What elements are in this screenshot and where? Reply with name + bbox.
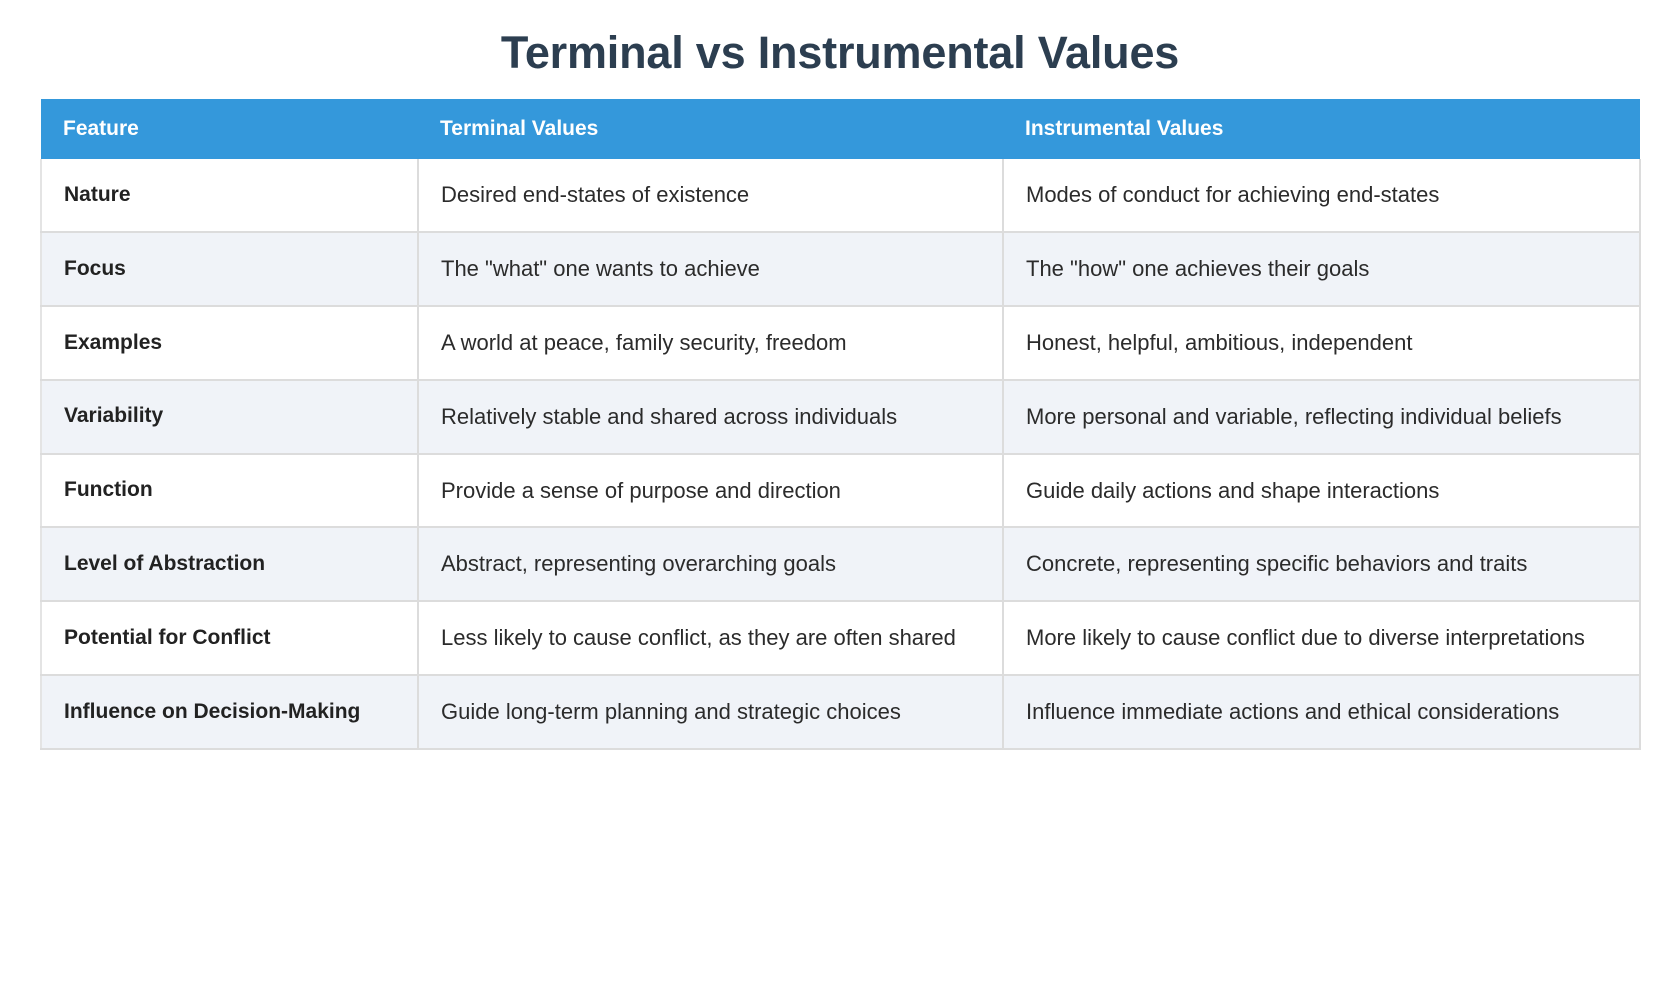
cell-instrumental: Guide daily actions and shape interactio… [1003,454,1640,528]
cell-instrumental: Concrete, representing specific behavior… [1003,527,1640,601]
cell-instrumental: Modes of conduct for achieving end-state… [1003,159,1640,232]
table-row: Potential for Conflict Less likely to ca… [41,601,1640,675]
cell-feature: Potential for Conflict [41,601,418,675]
table-row: Examples A world at peace, family securi… [41,306,1640,380]
cell-instrumental: More personal and variable, reflecting i… [1003,380,1640,454]
cell-terminal: Desired end-states of existence [418,159,1003,232]
cell-feature: Focus [41,232,418,306]
cell-instrumental: The "how" one achieves their goals [1003,232,1640,306]
comparison-table-container: Feature Terminal Values Instrumental Val… [40,99,1639,750]
cell-feature: Function [41,454,418,528]
table-row: Influence on Decision-Making Guide long-… [41,675,1640,749]
table-header: Feature Terminal Values Instrumental Val… [41,99,1640,159]
cell-instrumental: Honest, helpful, ambitious, independent [1003,306,1640,380]
table-header-row: Feature Terminal Values Instrumental Val… [41,99,1640,159]
cell-feature: Level of Abstraction [41,527,418,601]
column-header-instrumental-values[interactable]: Instrumental Values [1003,99,1640,159]
cell-instrumental: Influence immediate actions and ethical … [1003,675,1640,749]
cell-instrumental: More likely to cause conflict due to div… [1003,601,1640,675]
cell-terminal: Relatively stable and shared across indi… [418,380,1003,454]
comparison-table: Feature Terminal Values Instrumental Val… [40,99,1641,750]
cell-terminal: A world at peace, family security, freed… [418,306,1003,380]
comparison-table-page: Terminal vs Instrumental Values Feature … [0,0,1680,1006]
table-row: Focus The "what" one wants to achieve Th… [41,232,1640,306]
cell-terminal: The "what" one wants to achieve [418,232,1003,306]
cell-terminal: Less likely to cause conflict, as they a… [418,601,1003,675]
table-body: Nature Desired end-states of existence M… [41,159,1640,749]
cell-terminal: Abstract, representing overarching goals [418,527,1003,601]
table-row: Function Provide a sense of purpose and … [41,454,1640,528]
column-header-feature[interactable]: Feature [41,99,418,159]
cell-feature: Examples [41,306,418,380]
table-row: Level of Abstraction Abstract, represent… [41,527,1640,601]
table-row: Nature Desired end-states of existence M… [41,159,1640,232]
cell-terminal: Provide a sense of purpose and direction [418,454,1003,528]
table-row: Variability Relatively stable and shared… [41,380,1640,454]
page-title: Terminal vs Instrumental Values [0,0,1680,79]
cell-terminal: Guide long-term planning and strategic c… [418,675,1003,749]
cell-feature: Influence on Decision-Making [41,675,418,749]
column-header-terminal-values[interactable]: Terminal Values [418,99,1003,159]
cell-feature: Variability [41,380,418,454]
cell-feature: Nature [41,159,418,232]
